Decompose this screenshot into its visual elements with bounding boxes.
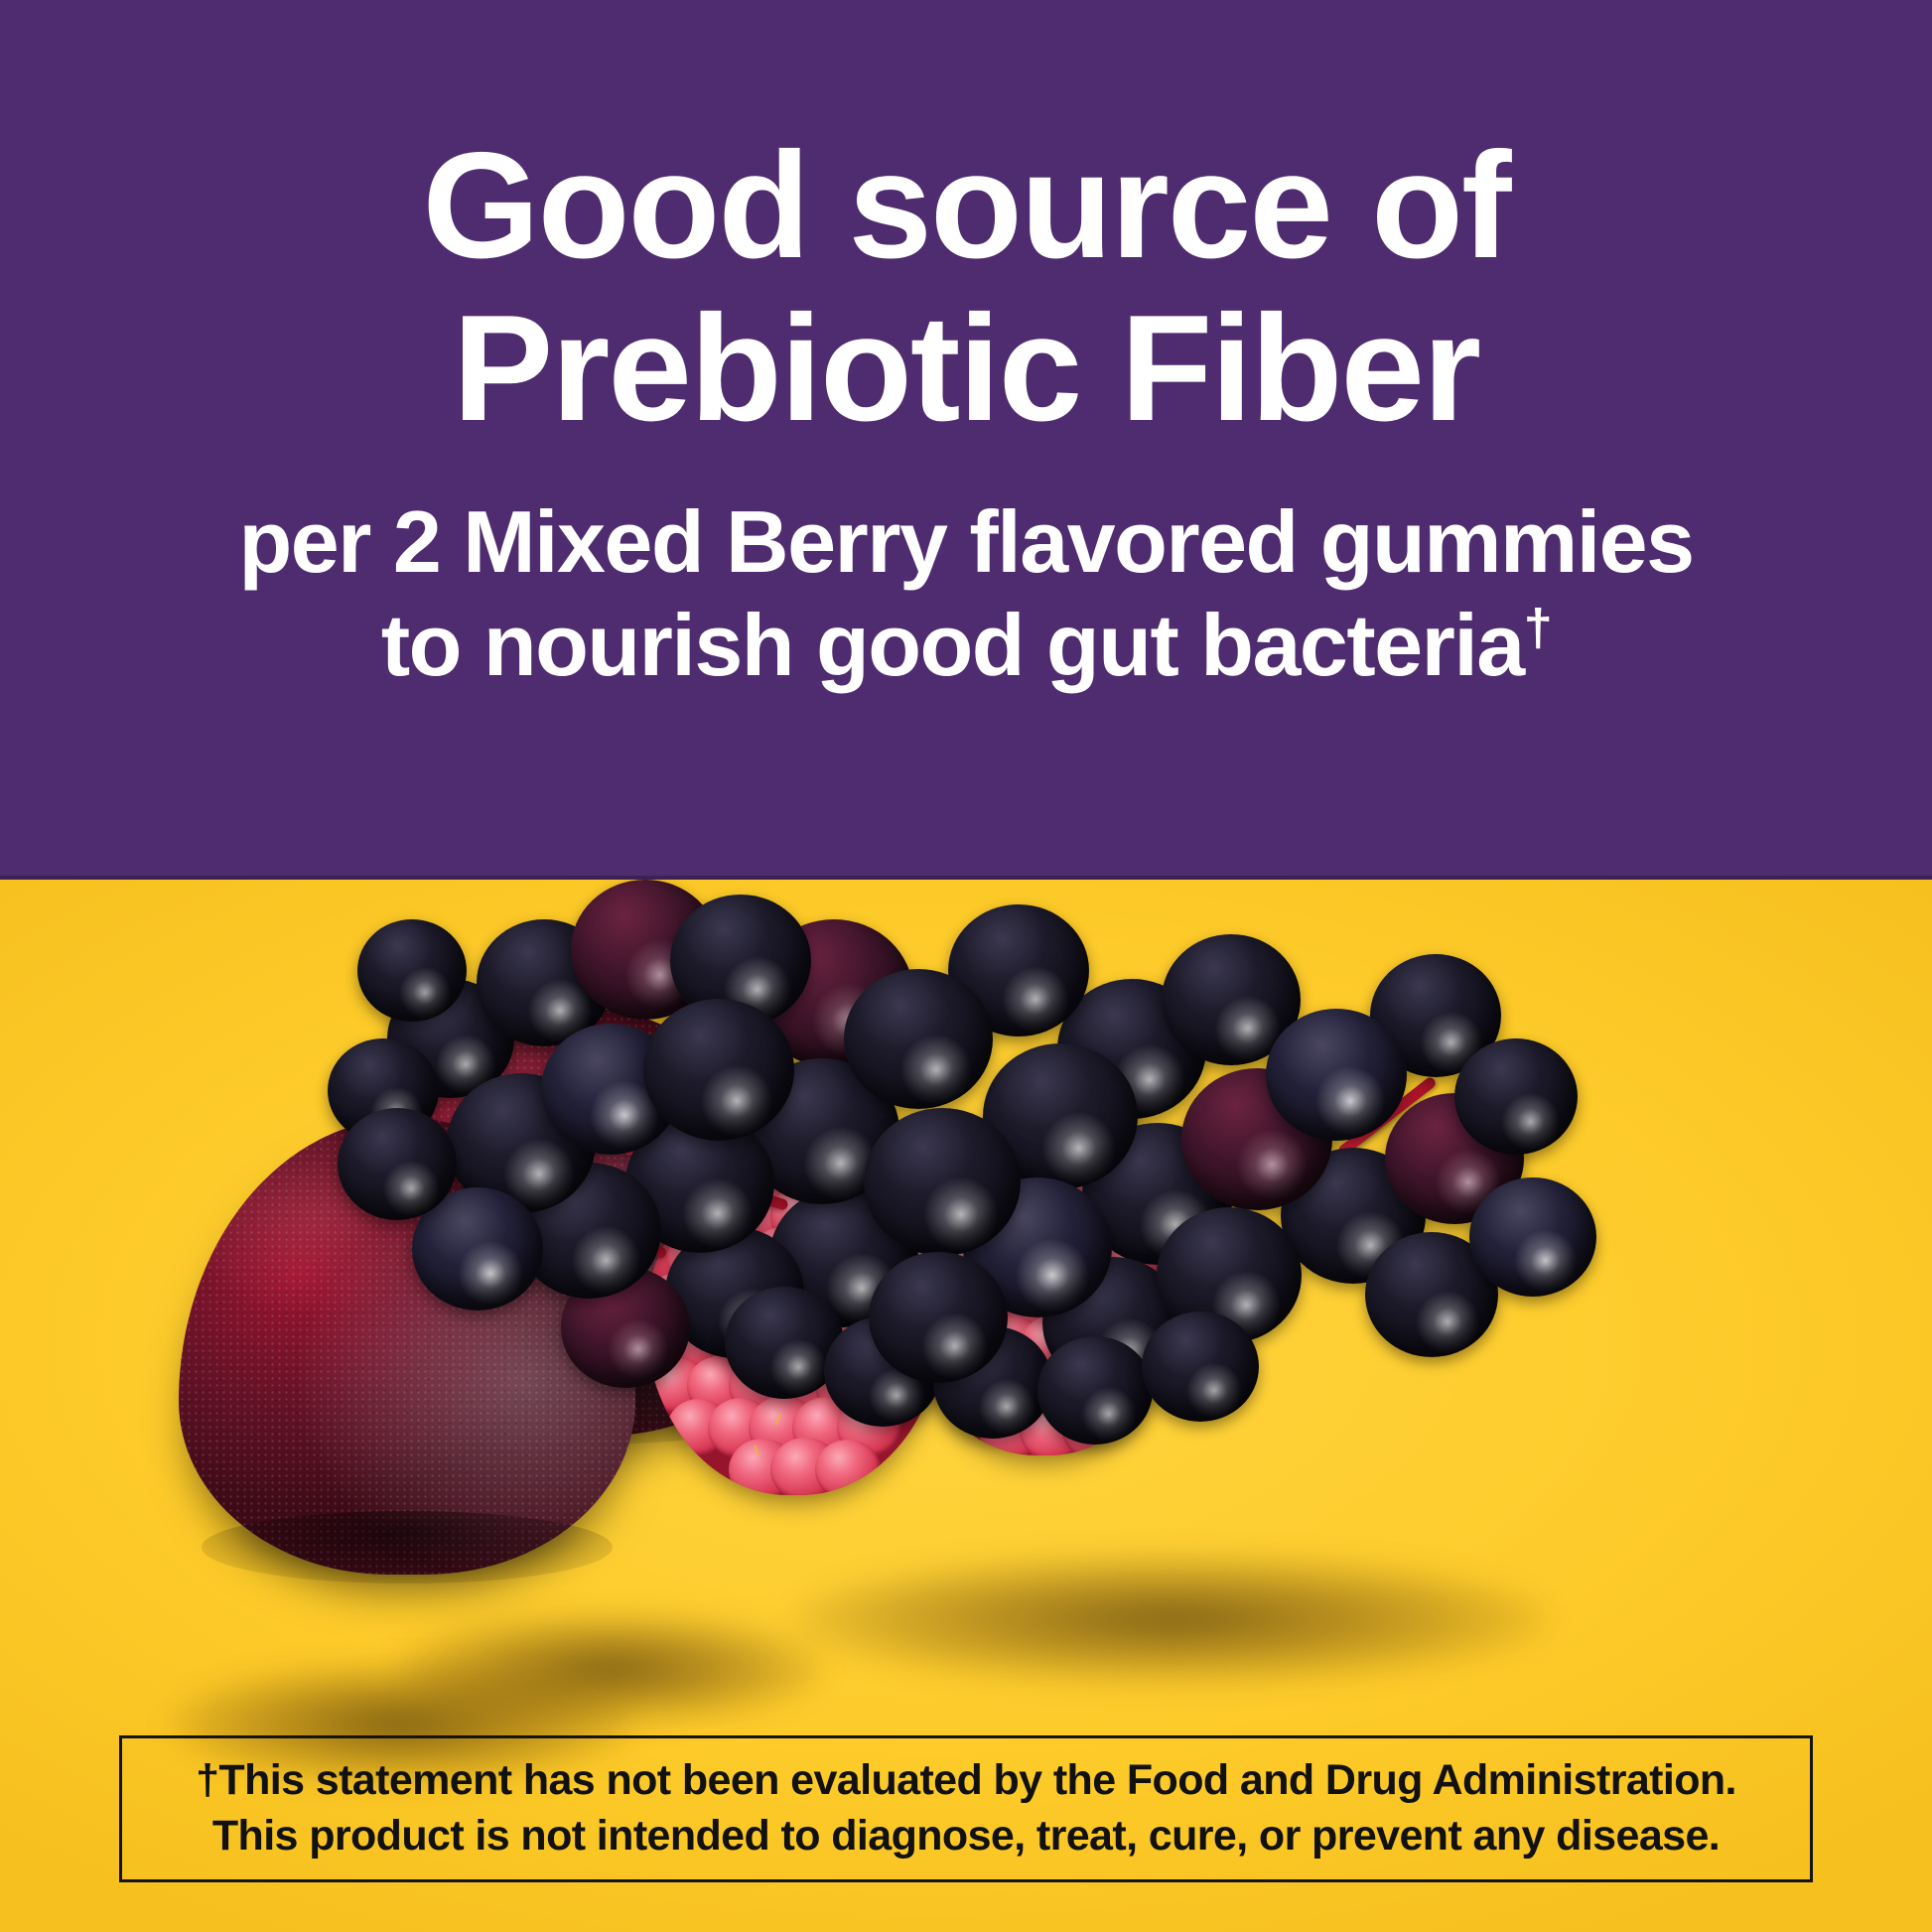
headline-line-1: Good source of xyxy=(422,127,1509,284)
disclaimer-line-1: †This statement has not been evaluated b… xyxy=(196,1753,1736,1809)
product-claim-card: Good source of Prebiotic Fiber per 2 Mix… xyxy=(0,0,1932,1932)
cluster-shadow xyxy=(794,1555,1549,1684)
elderberry xyxy=(1142,1311,1259,1422)
elderberry xyxy=(1037,1336,1153,1445)
elderberry xyxy=(643,999,794,1141)
raspberry-druplet xyxy=(815,1440,881,1495)
elderberry xyxy=(869,1252,1008,1383)
subhead-line-2: to nourish good gut bacteria† xyxy=(381,596,1551,695)
elderberry xyxy=(864,1108,1021,1256)
elderberry xyxy=(1469,1177,1596,1297)
elderberry xyxy=(357,919,467,1022)
subhead-line-1: per 2 Mixed Berry flavored gummies xyxy=(238,492,1693,592)
elderberry xyxy=(1454,1038,1578,1155)
elderberry xyxy=(338,1108,457,1220)
headline-line-2: Prebiotic Fiber xyxy=(453,290,1479,447)
dagger-symbol: † xyxy=(1524,600,1551,657)
elderberry xyxy=(1266,1009,1407,1141)
disclaimer-line-2: This product is not intended to diagnose… xyxy=(212,1809,1720,1864)
header-panel: Good source of Prebiotic Fiber per 2 Mix… xyxy=(0,0,1932,880)
fda-disclaimer-box: †This statement has not been evaluated b… xyxy=(119,1735,1813,1882)
gummy-base-shadow xyxy=(202,1511,613,1585)
elderberry xyxy=(844,969,993,1109)
subhead-line-2-text: to nourish good gut bacteria xyxy=(381,596,1524,694)
